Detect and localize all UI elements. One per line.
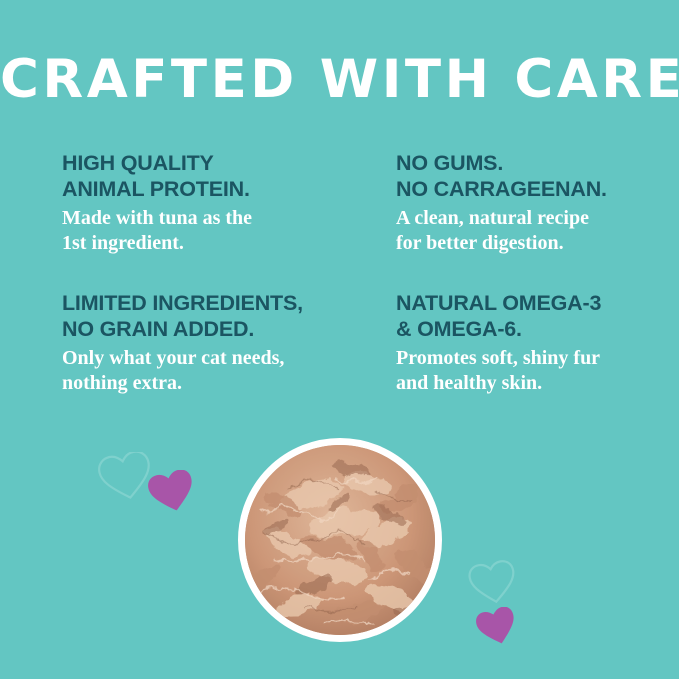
heart-outline-icon (468, 560, 518, 606)
page-title: CRAFTED WITH CARE (0, 48, 679, 112)
feature-natural-omega-3-and-6: NATURAL OMEGA-3 & OMEGA-6. Promotes soft… (396, 290, 632, 396)
feature-heading: HIGH QUALITY ANIMAL PROTEIN. (62, 150, 396, 202)
feature-heading: NATURAL OMEGA-3 & OMEGA-6. (396, 290, 632, 342)
feature-grid: HIGH QUALITY ANIMAL PROTEIN. Made with t… (62, 150, 632, 396)
heart-solid-icon (148, 470, 196, 514)
feature-heading: LIMITED INGREDIENTS, NO GRAIN ADDED. (62, 290, 396, 342)
crafted-with-care-poster: CRAFTED WITH CARE HIGH QUALITY ANIMAL PR… (0, 0, 679, 679)
heart-solid-icon (476, 607, 518, 647)
feature-limited-ingredients-no-grain: LIMITED INGREDIENTS, NO GRAIN ADDED. Onl… (62, 290, 396, 396)
heart-outline-icon (98, 452, 154, 502)
feature-body: Only what your cat needs, nothing extra. (62, 346, 396, 396)
feature-body: Promotes soft, shiny fur and healthy ski… (396, 346, 632, 396)
feature-heading: NO GUMS. NO CARRAGEENAN. (396, 150, 632, 202)
feature-no-gums-no-carrageenan: NO GUMS. NO CARRAGEENAN. A clean, natura… (396, 150, 632, 290)
feature-body: Made with tuna as the 1st ingredient. (62, 206, 396, 256)
product-photo-tuna (238, 438, 442, 642)
tuna-texture-illustration (245, 445, 435, 635)
feature-high-quality-animal-protein: HIGH QUALITY ANIMAL PROTEIN. Made with t… (62, 150, 396, 290)
feature-body: A clean, natural recipe for better diges… (396, 206, 632, 256)
